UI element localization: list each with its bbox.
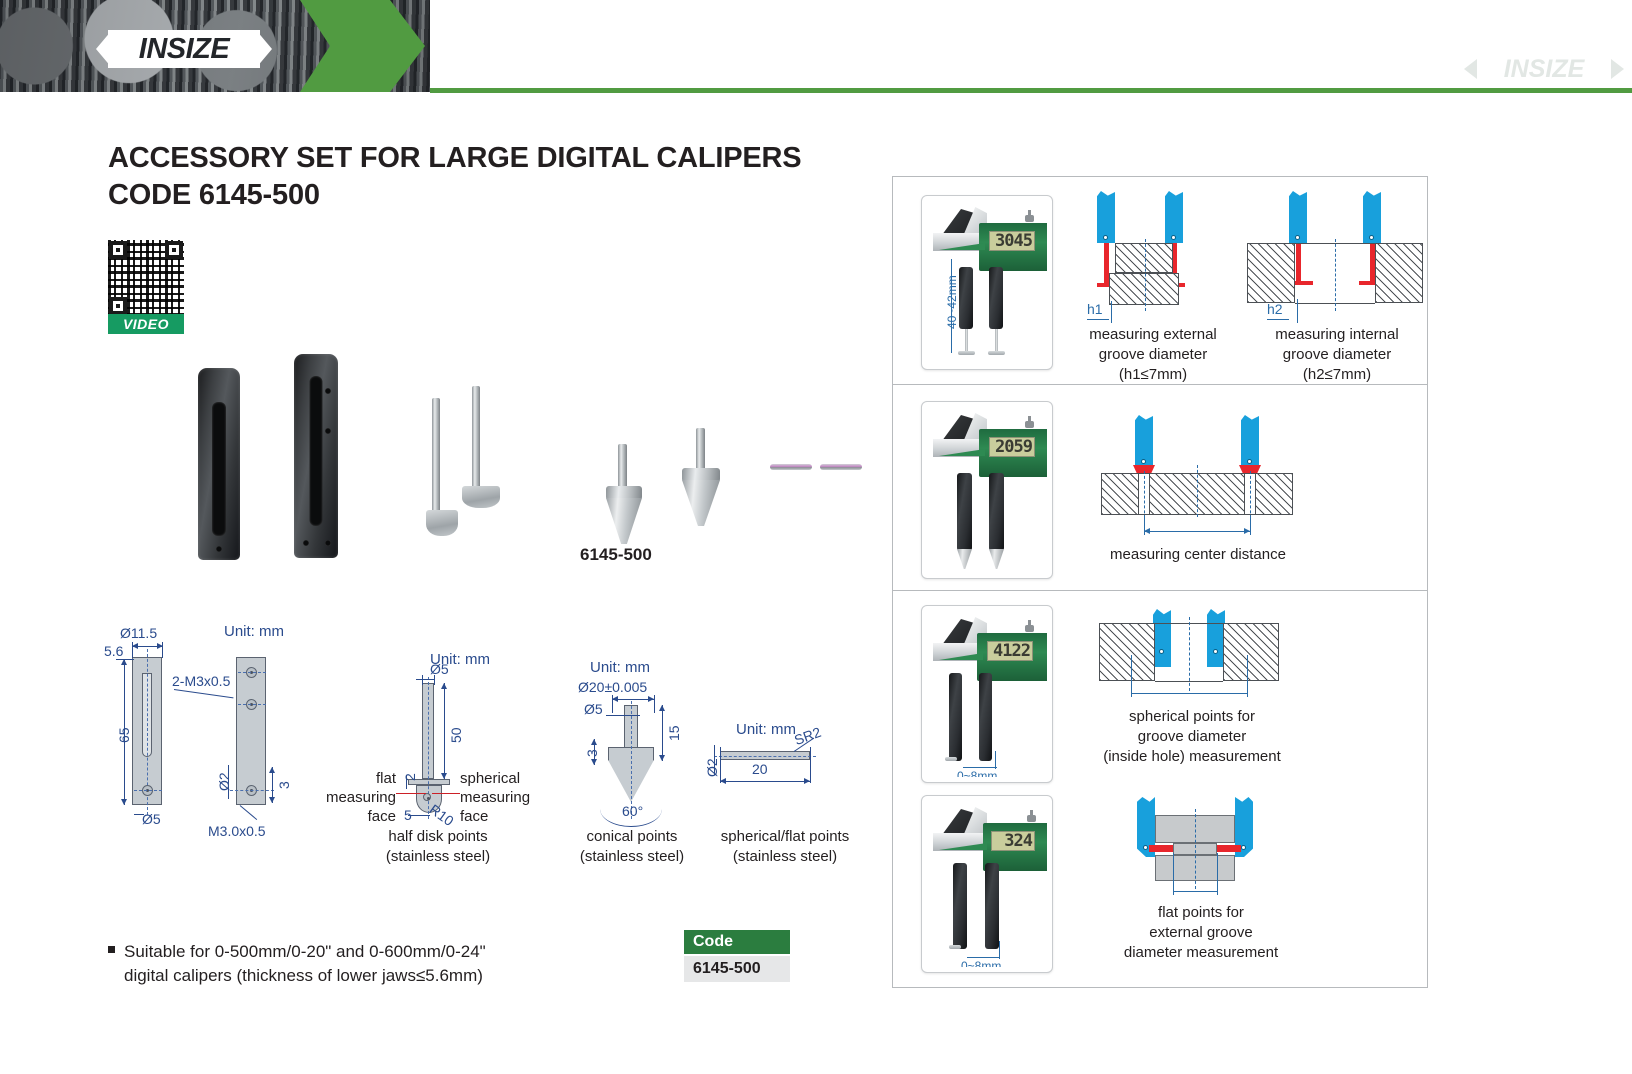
photo-dim-label-1: 40~42mm [945,275,959,329]
caliper-lcd-4: 324 [991,831,1035,851]
code-table-header: Code [684,930,790,954]
bore-centerline [1335,239,1336,311]
dim-2-m3x05: 2-M3x0.5 [172,673,230,689]
product-thin-rod-2 [820,464,862,470]
ext-d20-b [654,695,655,713]
jaw-right-pin-2 [1369,235,1374,240]
caliper-photo-card-2: 2059 [921,401,1053,579]
label-spherical-measuring-face: spherical measuring face [460,769,546,827]
diagram-internal-groove: h2 measuring internal groove diameter (h… [1251,191,1421,381]
photo-dim-line-3 [963,767,997,768]
product-code-caption: 6145-500 [580,545,652,565]
half-disk-caption-2: (stainless steel) [358,847,518,867]
arrow-up-50 [441,683,447,689]
sph-face-leader [432,793,460,794]
caliper-thumb-wheel [1025,215,1034,222]
int-caption-1: measuring internal [1247,325,1427,345]
conical-caption-2: (stainless steel) [552,847,712,867]
title-line-1: ACCESSORY SET FOR LARGE DIGITAL CALIPERS [108,140,908,177]
attachment-cone-right [989,549,1004,569]
leader-m3-h [240,805,257,820]
workpiece-left-block [1247,243,1295,303]
arrow-down-15 [659,755,665,761]
dim-line-15 [662,705,663,761]
half-disk-caption-1: half disk points [358,827,518,847]
bracket-hole-mid [325,428,331,434]
attachment-cone-left [957,549,972,569]
conical-shank [696,428,705,472]
caliper-lcd-2: 2059 [989,437,1035,457]
sph-face-line-1: spherical [460,769,546,788]
logo-wordmark-plate: INSIZE [108,30,260,68]
arrow-down [121,799,127,805]
technical-drawings: Unit: mm Ø11.5 5.6 65 Ø5 2-M [100,615,870,870]
caliper-thumb-wheel [1025,625,1034,632]
ext-caption-3: (h1≤7mm) [1063,365,1243,385]
caliper-lcd-3: 4122 [987,641,1033,661]
caption-spherical-groove: spherical points for groove diameter (in… [1087,707,1297,766]
flat-face-line-2: measuring [316,788,396,807]
code-table-value: 6145-500 [684,954,790,982]
groove-ext-right [1247,655,1248,697]
jaw-right-pin-3 [1247,459,1252,464]
arrow-down-3 [269,797,275,803]
dim-m3x05: M3.0x0.5 [208,823,266,839]
attachment-foot-left-3 [945,757,957,761]
jaw-right-pin-5 [1241,845,1246,850]
bracket-hole-upper [325,388,331,394]
attachment-right-4 [985,863,999,949]
dim-line-d2 [228,765,229,799]
jaw-left-pin [1103,235,1108,240]
fg-ext-left [1173,853,1174,895]
sg-caption-2: groove diameter [1087,727,1297,747]
caliper-photo-2: 2059 [927,407,1047,573]
arrow-down-3c [591,759,597,765]
dim-3-conical: 3 [584,749,600,757]
dim-line-d2-sph [714,745,715,775]
plate-centerline [1197,465,1198,517]
note-line-1: Suitable for 0-500mm/0-20" and 0-600mm/0… [124,940,668,964]
int-caption-2: groove diameter [1247,345,1427,365]
bore-centerline-4 [1189,617,1190,691]
int-caption-3: (h2≤7mm) [1247,365,1427,385]
qr-code[interactable] [108,240,184,316]
center-distance-dim-line [1144,531,1250,532]
conical-collar [682,468,720,482]
application-panel: 3045 40~42mm [892,176,1428,988]
flat-face-leader [396,793,426,794]
h1-ext-line [1111,301,1112,323]
bracket-side-body [236,657,266,805]
jaw-right-pin-4 [1213,649,1218,654]
title-line-2: CODE 6145-500 [108,177,908,214]
dim-line-5-hd [408,815,430,816]
sph-face-line-3: face [460,807,546,826]
flat-groove-dim-line [1173,891,1217,892]
attachment-rod-left-1 [965,329,968,353]
caption-half-disk-points: half disk points (stainless steel) [358,827,518,866]
attachment-rod-right-1 [995,329,998,353]
caption-external-groove: measuring external groove diameter (h1≤7… [1063,325,1243,384]
attachment-right-3 [979,673,992,761]
photo-dim-ext-3 [995,751,996,769]
arrow-up-3 [269,767,275,773]
dim-d5-halfdisk: Ø5 [430,661,449,677]
groove-dim-line [1131,693,1247,694]
attachment-left-1 [959,267,973,329]
marker-h2-underline [1267,319,1289,320]
dim-line-50 [444,683,445,779]
caption-spherical-flat-points: spherical/flat points (stainless steel) [700,827,870,866]
jaw-left-pin-4 [1159,649,1164,654]
conical-caption-1: conical points [552,827,712,847]
flat-face-line-3: face [316,807,396,826]
product-bracket-2 [294,354,338,558]
ext-line-d11b [162,642,163,658]
arrow-up-15 [659,705,665,711]
sg-caption-3: (inside hole) measurement [1087,747,1297,767]
sph-face-line-2: measuring [460,788,546,807]
cd-ext-left [1144,515,1145,535]
fg-caption-2: external groove [1101,923,1301,943]
photo-dim-ext-4 [999,941,1000,959]
arrow-up [121,659,127,665]
dim-20: 20 [752,761,768,777]
application-section-2: 2059 [893,385,1427,591]
application-section-1: 3045 40~42mm [893,177,1427,385]
marker-h1: h1 [1087,301,1103,317]
caliper-thumb-wheel [1025,421,1034,428]
insize-logo: INSIZE [96,30,272,68]
video-badge[interactable]: VIDEO [108,314,184,334]
application-section-3: 4122 0~8mm [893,591,1427,987]
side-hole-cl-2 [238,704,266,705]
jaw-left-red-tip-2 [1296,243,1301,285]
attachment-left-3 [949,673,962,761]
diagram-external-groove: h1 measuring external groove diameter (h… [1073,191,1233,381]
half-disk-shank [472,386,480,492]
dim-line-65 [124,659,125,805]
jaw-right-pin [1171,235,1176,240]
product-bracket-1 [198,368,240,560]
attachment-right-1 [989,267,1003,329]
angle-arc [600,791,662,827]
caption-conical-points: conical points (stainless steel) [552,827,712,866]
qr-eye-bottom-left [109,297,127,315]
conical-shank [618,444,627,490]
fg-caption-3: diameter measurement [1101,943,1301,963]
diagram-spherical-groove: spherical points for groove diameter (in… [1103,609,1403,789]
half-disk-shank [432,398,440,516]
workpiece-right-hatch [1223,623,1279,681]
dim-3-bracket: 3 [276,781,292,789]
dim-d2-sph: Ø2 [704,758,720,777]
dim-5-6: 5.6 [104,643,123,659]
ext-line-d11a [132,642,133,658]
dim-2-halfdisk: 2 [402,773,418,781]
workpiece-centerline-5 [1195,809,1196,889]
photo-dim-label-3: 0~8mm [957,769,997,777]
ext-d20-a [612,695,613,713]
ext-d5-hd-b [434,675,435,685]
product-thin-rod-1 [770,464,812,470]
workpiece-centerline [1145,239,1146,311]
dim-line-2-hd [406,775,407,789]
caption-flat-external-groove: flat points for external groove diameter… [1101,903,1301,962]
caliper-photo-card-4: 324 0~8mm [921,795,1053,973]
ext-caption-2: groove diameter [1063,345,1243,365]
dim-50: 50 [448,727,464,743]
note-line-2: digital calipers (thickness of lower jaw… [124,964,668,988]
diagram-flat-external-groove: flat points for external groove diameter… [1109,797,1409,977]
header-green-rule [430,88,1632,93]
conical-tip [682,480,720,526]
caliper-photo-1: 3045 40~42mm [927,201,1047,364]
h2-ext-line [1297,299,1298,323]
attachment-left-4 [953,863,967,949]
jaw-left-blue-4 [1153,609,1171,667]
flat-face-line-1: flat [316,769,396,788]
groove-ext-left [1131,655,1132,697]
bracket-hole [216,546,222,552]
note-bullet-icon [108,946,115,953]
cd-ext-right [1250,515,1251,535]
product-conical-2 [680,428,726,528]
attachment-right-2 [989,473,1004,551]
photo-dim-line-1 [951,259,952,353]
bracket-hole-centerline-h [134,790,162,791]
ext-20-a [720,747,721,783]
product-photo-group: 6145-500 [190,340,880,570]
page-header: INSIZE INSIZE [0,0,1632,100]
workpiece-upper [1115,243,1173,273]
marker-h2: h2 [1267,301,1283,317]
sph-flat-caption-1: spherical/flat points [700,827,870,847]
qr-eye-top-left [109,241,127,259]
page-title: ACCESSORY SET FOR LARGE DIGITAL CALIPERS… [108,140,908,214]
jaw-left-red-foot-2 [1293,281,1313,285]
dim-sr2: SR2 [792,724,823,748]
caliper-lcd-1: 3045 [989,231,1035,251]
attachment-foot-left-4 [949,945,961,949]
code-table: Code 6145-500 [684,930,790,982]
caption-center-distance: measuring center distance [1103,545,1293,565]
dim-15: 15 [666,725,682,741]
qr-eye-top-right [165,241,183,259]
dim-d5-bracket: Ø5 [142,811,161,827]
side-hole-cl-3 [230,790,274,791]
dim-d2-bracket: Ø2 [216,772,232,791]
dim-line-20 [720,781,810,782]
dim-line-d5-hd [416,679,434,680]
arrow-up-3c [591,739,597,745]
marker-h1-underline [1087,319,1109,320]
label-flat-measuring-face: flat measuring face [316,769,396,827]
fg-ext-right [1217,853,1218,895]
ext-20-b [810,747,811,783]
dim-d5-conical: Ø5 [584,701,603,717]
half-disk-head [426,510,458,536]
sph-flat-caption-2: (stainless steel) [700,847,870,867]
dim-d11-5: Ø11.5 [120,625,157,641]
photo-dim-label-4: 0~8mm [961,959,1001,967]
ext-caption-1: measuring external [1063,325,1243,345]
conical-unit-label: Unit: mm [590,659,650,676]
bracket-hole-low2 [325,540,331,546]
caliper-photo-card-3: 4122 0~8mm [921,605,1053,783]
half-disk-head [462,486,500,508]
dim-line-d5-bracket [134,814,144,815]
spherical-unit-label: Unit: mm [736,721,796,738]
logo-wordmark: INSIZE [139,33,229,66]
workpiece-right-block [1375,243,1423,303]
bracket-hole-low [303,540,309,546]
product-half-disk-2 [462,386,512,516]
ext-d5-hd-a [422,675,423,685]
caption-internal-groove: measuring internal groove diameter (h2≤7… [1247,325,1427,384]
product-conical-1 [604,444,648,544]
caliper-photo-3: 4122 0~8mm [927,611,1047,777]
conical-collar [606,486,642,500]
caliper-photo-card-1: 3045 40~42mm [921,195,1053,370]
attachment-foot-right-1 [988,351,1005,355]
suitability-note: Suitable for 0-500mm/0-20" and 0-600mm/0… [108,940,668,988]
jaw-left-pin-2 [1295,235,1300,240]
workpiece-lower [1109,273,1179,305]
workpiece-left-hatch [1099,623,1155,681]
bracket-unit-label: Unit: mm [224,623,284,640]
insize-watermark: INSIZE [1464,52,1624,86]
conical-tip [606,498,642,544]
cd-caption-1: measuring center distance [1103,545,1293,565]
attachment-foot-left-1 [958,351,975,355]
diagram-center-distance: measuring center distance [1103,415,1403,575]
bracket-slot [212,402,226,536]
photo-dim-line-4 [967,957,999,958]
half-disk-center-hole [423,793,431,801]
video-qr-block[interactable]: VIDEO [108,240,184,334]
caliper-photo-4: 324 0~8mm [927,801,1047,967]
arrow-down-50 [441,773,447,779]
attachment-left-2 [957,473,972,551]
side-hole-cl-1 [238,672,266,673]
jaw-left-pin-3 [1141,459,1146,464]
leader-2m3-h [174,689,234,698]
bracket-slot [310,376,323,526]
dim-line-d5-con [606,715,640,716]
watermark-text: INSIZE [1464,52,1624,86]
caliper-thumb-wheel [1027,815,1036,822]
dim-d20: Ø20±0.005 [578,679,647,695]
jaw-left-pin-5 [1143,845,1148,850]
fg-caption-1: flat points for [1101,903,1301,923]
sph-flat-centerline [714,756,816,757]
sg-caption-1: spherical points for [1087,707,1297,727]
